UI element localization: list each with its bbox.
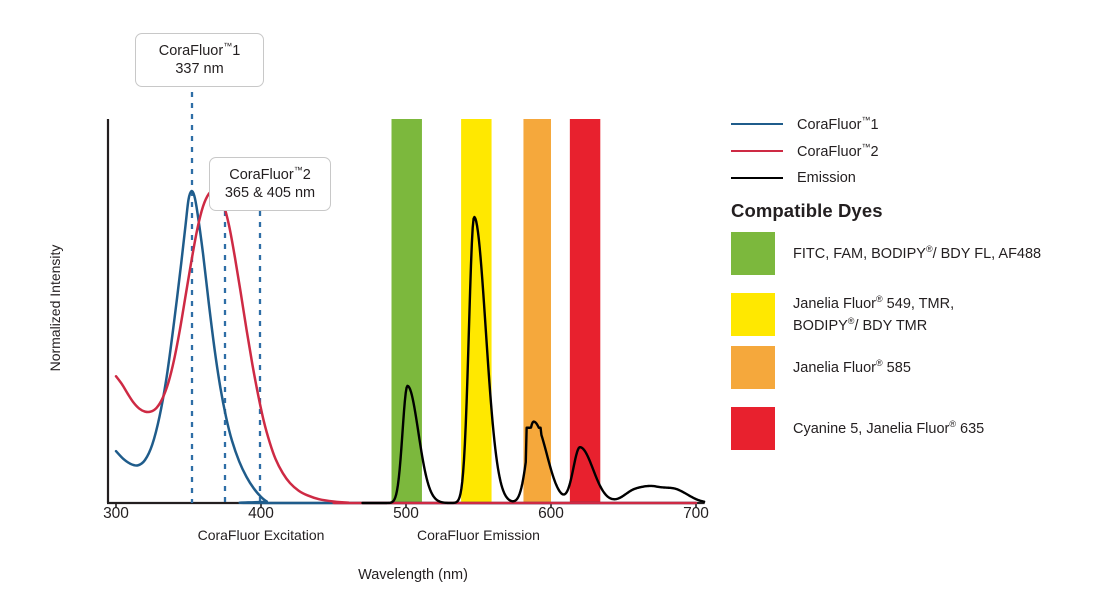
callout-cf2-line2: 365 & 405 nm [221,185,319,203]
dye-label: Janelia Fluor® 549, TMR,BODIPY®/ BDY TMR [793,293,954,336]
legend-line-swatch-corafluor1 [731,123,783,125]
legend-label-corafluor1: CoraFluor™1 [797,115,879,133]
callout-cf2-line1: CoraFluor™2 [221,165,319,185]
legend-item-emission: Emission [731,164,1103,191]
x-tick-500: 500 [376,505,436,523]
series-legend: CoraFluor™1 CoraFluor™2 Emission [731,110,1103,191]
callout-corafluor2: CoraFluor™2 365 & 405 nm [209,157,331,211]
x-tick-300: 300 [86,505,146,523]
dye-row: Janelia Fluor® 549, TMR,BODIPY®/ BDY TMR [731,293,1106,336]
axis-group-excitation: CoraFluor Excitation [141,527,381,543]
emission-band-cyanine-5-band [570,119,600,503]
dye-color-swatch [731,346,775,389]
emission-band-janelia-585-band [523,119,551,503]
x-tick-600: 600 [521,505,581,523]
dye-row: Janelia Fluor® 585 [731,346,1106,389]
dye-color-swatch [731,407,775,450]
legend-line-swatch-corafluor2 [731,150,783,152]
x-tick-700: 700 [666,505,726,523]
dye-row: Cyanine 5, Janelia Fluor® 635 [731,407,1106,450]
dye-label: Janelia Fluor® 585 [793,357,911,378]
fluorescence-spectra-figure: CoraFluor™1 337 nm CoraFluor™2 365 & 405… [0,0,1110,612]
compatible-dyes-title: Compatible Dyes [731,200,883,222]
y-axis-label: Normalized Intensity [47,213,63,403]
axis-group-emission: CoraFluor Emission [359,527,599,543]
legend-line-swatch-emission [731,177,783,179]
legend-label-emission: Emission [797,170,856,186]
callout-cf1-line1: CoraFluor™1 [147,41,252,61]
legend-label-corafluor2: CoraFluor™2 [797,142,879,160]
dye-label: FITC, FAM, BODIPY®/ BDY FL, AF488 [793,243,1041,264]
legend-item-corafluor2: CoraFluor™2 [731,137,1103,164]
dye-row: FITC, FAM, BODIPY®/ BDY FL, AF488 [731,232,1106,275]
compatible-dyes-list: FITC, FAM, BODIPY®/ BDY FL, AF488Janelia… [731,232,1106,468]
x-axis-label: Wavelength (nm) [253,567,573,583]
callout-corafluor1: CoraFluor™1 337 nm [135,33,264,87]
dye-color-swatch [731,232,775,275]
dye-color-swatch [731,293,775,336]
legend-item-corafluor1: CoraFluor™1 [731,110,1103,137]
dye-label: Cyanine 5, Janelia Fluor® 635 [793,418,984,439]
x-tick-400: 400 [231,505,291,523]
callout-cf1-line2: 337 nm [147,61,252,79]
emission-band-fitc-band [392,119,422,503]
